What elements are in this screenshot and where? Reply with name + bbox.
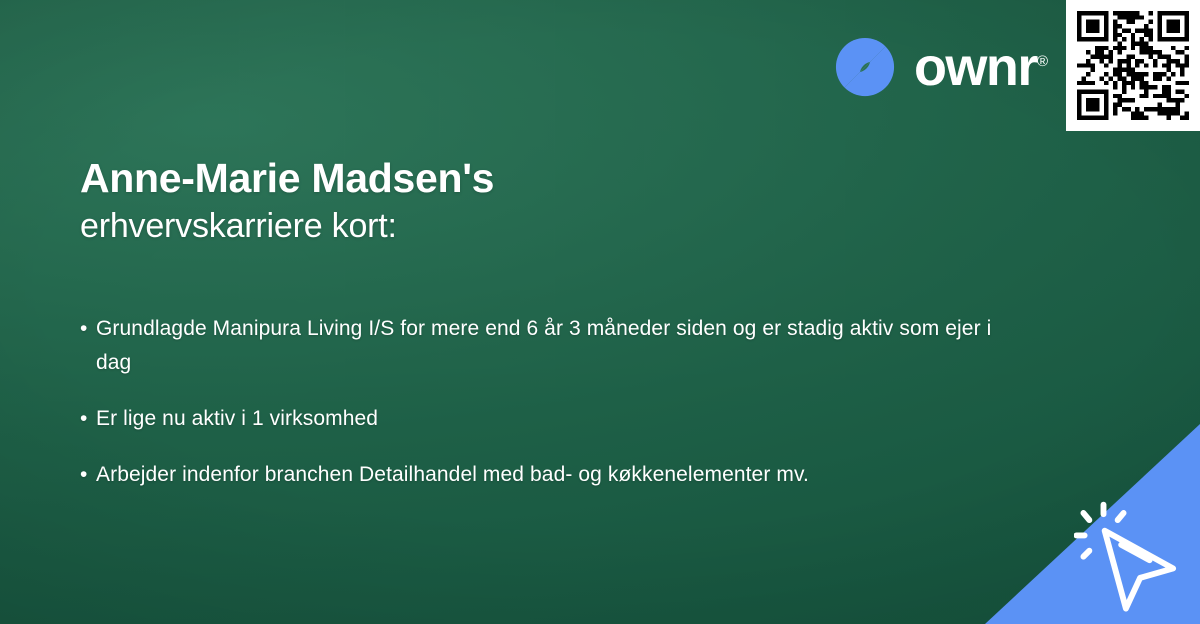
list-item: • Er lige nu aktiv i 1 virksomhed [80,402,1020,436]
ownr-wordmark: ownr® [914,40,1048,94]
qr-code[interactable] [1066,0,1200,131]
bullet-marker-icon: • [80,312,96,346]
brand-name: ownr [914,37,1037,97]
bullet-marker-icon: • [80,402,96,436]
list-item-text: Er lige nu aktiv i 1 virksomhed [96,402,1020,436]
ownr-circle-icon [834,36,896,98]
list-item: • Arbejder indenfor branchen Detailhande… [80,458,1020,492]
list-item: • Grundlagde Manipura Living I/S for mer… [80,312,1020,380]
list-item-text: Arbejder indenfor branchen Detailhandel … [96,458,1020,492]
qr-code-image [1077,11,1189,120]
page-title: Anne-Marie Madsen's erhvervskarriere kor… [80,152,494,250]
registered-trademark-icon: ® [1037,53,1048,70]
career-facts-list: • Grundlagde Manipura Living I/S for mer… [80,312,1020,514]
list-item-text: Grundlagde Manipura Living I/S for mere … [96,312,1020,380]
click-cursor-icon [1074,500,1192,618]
headline-line-2: erhvervskarriere kort: [80,204,494,250]
business-career-card: ownr® Anne-Marie Madsen's erhvervskarrie… [0,0,1200,624]
bullet-marker-icon: • [80,458,96,492]
ownr-logo: ownr® [834,36,1048,98]
headline-line-1: Anne-Marie Madsen's [80,152,494,204]
